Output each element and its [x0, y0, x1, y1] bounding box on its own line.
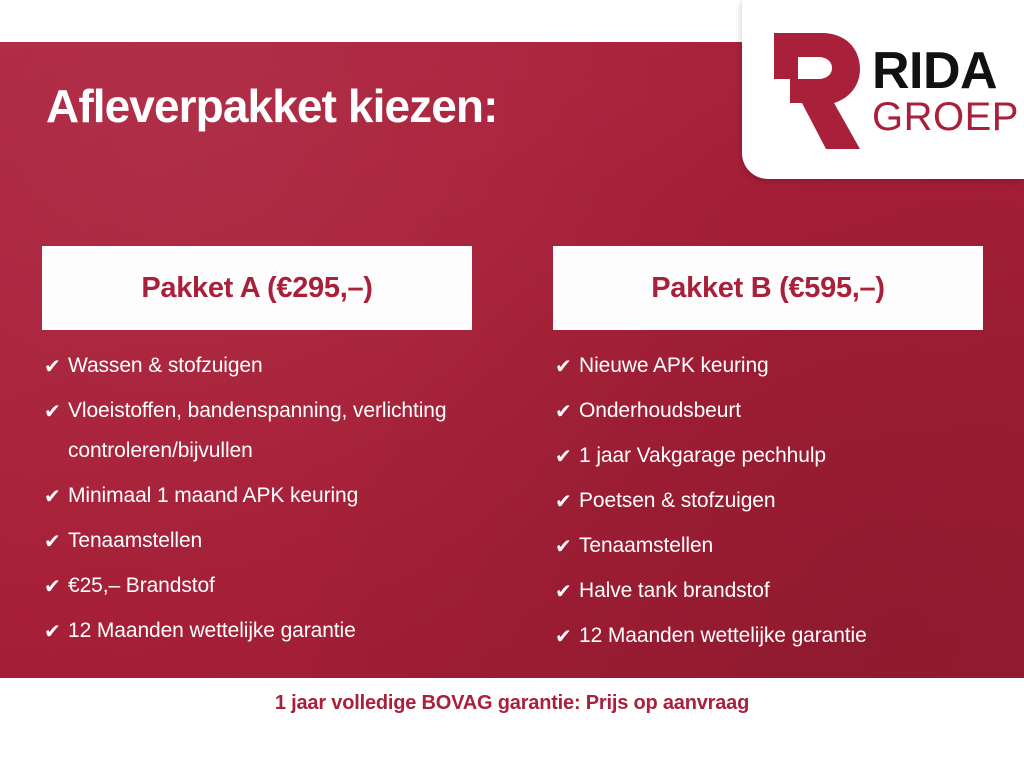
feature-label: 1 jaar Vakgarage pechhulp	[579, 436, 826, 476]
check-icon: ✔	[42, 476, 68, 516]
list-item: ✔ Minimaal 1 maand APK keuring	[42, 476, 472, 516]
package-header-label-pakket-b: Pakket B (€595,–)	[651, 272, 885, 305]
check-icon: ✔	[553, 391, 579, 431]
feature-label: Onderhoudsbeurt	[579, 391, 741, 431]
check-icon: ✔	[42, 521, 68, 561]
package-header-pakket-a[interactable]: Pakket A (€295,–)	[42, 246, 472, 330]
feature-label: 12 Maanden wettelijke garantie	[579, 616, 867, 656]
list-item: ✔ Tenaamstellen	[553, 526, 983, 566]
check-icon: ✔	[42, 566, 68, 606]
page-title: Afleverpakket kiezen:	[46, 79, 498, 133]
list-item: ✔ Halve tank brandstof	[553, 571, 983, 611]
check-icon: ✔	[553, 481, 579, 521]
feature-label: Halve tank brandstof	[579, 571, 770, 611]
logo-wordmark: RIDA GROEP	[872, 48, 1019, 138]
check-icon: ✔	[553, 571, 579, 611]
list-item: ✔ Wassen & stofzuigen	[42, 346, 472, 386]
logo-rida-text: RIDA	[872, 48, 1019, 96]
list-item: ✔ Nieuwe APK keuring	[553, 346, 983, 386]
package-header-pakket-b[interactable]: Pakket B (€595,–)	[553, 246, 983, 330]
check-icon: ✔	[42, 391, 68, 431]
feature-label: Nieuwe APK keuring	[579, 346, 769, 386]
feature-label: €25,– Brandstof	[68, 566, 215, 606]
afleverpakket-poster: RIDA GROEP Afleverpakket kiezen: Pakket …	[0, 0, 1024, 768]
list-item: ✔ 12 Maanden wettelijke garantie	[42, 611, 472, 651]
feature-label: Poetsen & stofzuigen	[579, 481, 775, 521]
footer-bar: 1 jaar volledige BOVAG garantie: Prijs o…	[0, 678, 1024, 768]
footer-note: 1 jaar volledige BOVAG garantie: Prijs o…	[0, 692, 1024, 715]
list-item: ✔ €25,– Brandstof	[42, 566, 472, 606]
feature-list-pakket-a: ✔ Wassen & stofzuigen ✔ Vloeistoffen, ba…	[42, 346, 472, 651]
logo-inner: RIDA GROEP	[742, 0, 1024, 179]
feature-label: Vloeistoffen, bandenspanning, verlichtin…	[68, 391, 468, 471]
feature-label: 12 Maanden wettelijke garantie	[68, 611, 356, 651]
list-item: ✔ Tenaamstellen	[42, 521, 472, 561]
check-icon: ✔	[553, 616, 579, 656]
list-item: ✔ 12 Maanden wettelijke garantie	[553, 616, 983, 656]
list-item: ✔ 1 jaar Vakgarage pechhulp	[553, 436, 983, 476]
list-item: ✔ Poetsen & stofzuigen	[553, 481, 983, 521]
check-icon: ✔	[42, 346, 68, 386]
package-header-label-pakket-a: Pakket A (€295,–)	[141, 272, 372, 305]
check-icon: ✔	[553, 436, 579, 476]
rida-r-mark-icon	[764, 29, 860, 153]
logo-plate: RIDA GROEP	[742, 0, 1024, 179]
check-icon: ✔	[553, 526, 579, 566]
feature-list-pakket-b: ✔ Nieuwe APK keuring ✔ Onderhoudsbeurt ✔…	[553, 346, 983, 656]
package-column-pakket-a: Pakket A (€295,–) ✔ Wassen & stofzuigen …	[42, 246, 472, 656]
package-column-pakket-b: Pakket B (€595,–) ✔ Nieuwe APK keuring ✔…	[553, 246, 983, 661]
check-icon: ✔	[553, 346, 579, 386]
feature-label: Minimaal 1 maand APK keuring	[68, 476, 358, 516]
feature-label: Tenaamstellen	[579, 526, 713, 566]
packages-container: Pakket A (€295,–) ✔ Wassen & stofzuigen …	[0, 246, 1024, 646]
logo-groep-text: GROEP	[872, 97, 1019, 137]
list-item: ✔ Onderhoudsbeurt	[553, 391, 983, 431]
list-item: ✔ Vloeistoffen, bandenspanning, verlicht…	[42, 391, 472, 471]
check-icon: ✔	[42, 611, 68, 651]
feature-label: Tenaamstellen	[68, 521, 202, 561]
feature-label: Wassen & stofzuigen	[68, 346, 263, 386]
